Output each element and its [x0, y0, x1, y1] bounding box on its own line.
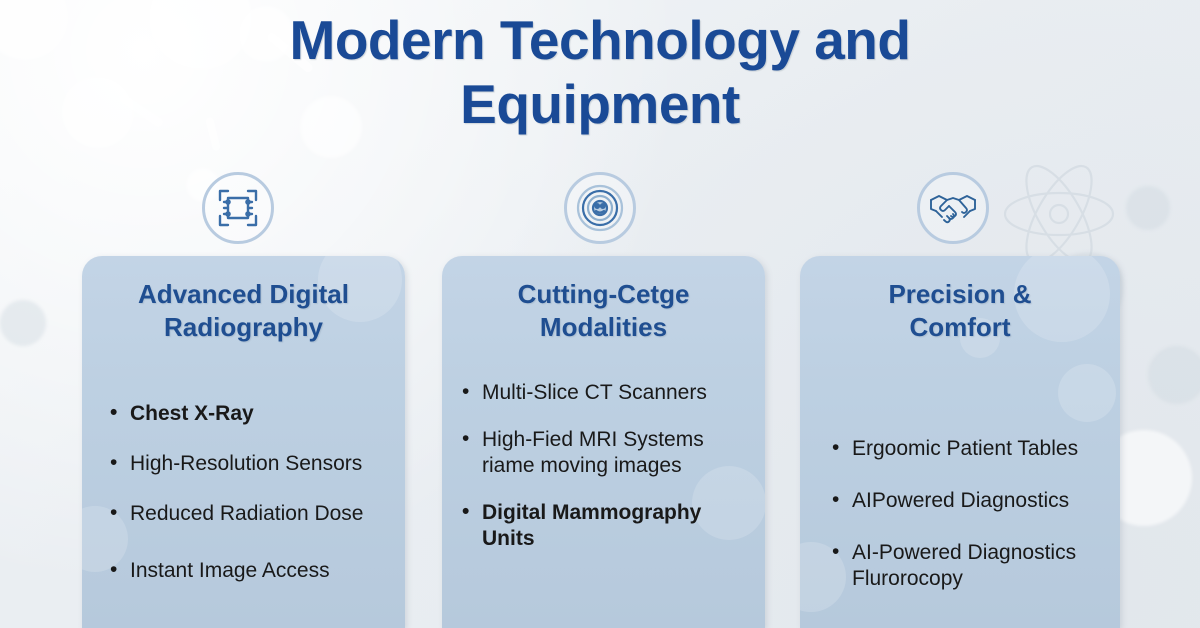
atom-watermark-icon [1000, 160, 1118, 268]
card-bullet-list: Multi-Slice CT Scanners High-Fied MRI Sy… [460, 380, 757, 552]
slide-canvas: Modern Technology and Equipment [0, 0, 1200, 628]
ct-scanner-icon-badge [564, 172, 636, 244]
handshake-icon [928, 187, 978, 229]
card-heading-line-2: Radiography [100, 311, 387, 344]
card-heading-line-2: Comfort [818, 311, 1102, 344]
list-item: Reduced Radiation Dose [108, 501, 393, 527]
card-bullet-list: Ergoomic Patient Tables AIPowered Diagno… [830, 436, 1110, 592]
list-item: Instant Image Access [108, 558, 393, 584]
card-cutting-edge-modalities: Cutting-Cetge Modalities Multi-Slice CT … [442, 256, 765, 628]
list-item: AIPowered Diagnostics [830, 488, 1110, 514]
handshake-icon-badge [917, 172, 989, 244]
xray-detector-icon-badge [202, 172, 274, 244]
ct-scanner-icon [576, 184, 624, 232]
card-heading-line-1: Cutting-Cetge [460, 278, 747, 311]
list-item: Chest X-Ray [108, 401, 393, 427]
list-item: AI-Powered Diagnostics Flurorocopy [830, 540, 1110, 592]
title-line-1: Modern Technology and [0, 8, 1200, 72]
card-heading-line-1: Advanced Digital [100, 278, 387, 311]
card-heading-line-1: Precision & [818, 278, 1102, 311]
card-advanced-digital-radiography: Advanced Digital Radiography Chest X-Ray… [82, 256, 405, 628]
list-item: Multi-Slice CT Scanners [460, 380, 757, 406]
card-precision-and-comfort: Precision & Comfort Ergoomic Patient Tab… [800, 256, 1120, 628]
list-item: High-Fied MRI Systems riame moving image… [460, 427, 757, 479]
card-heading: Precision & Comfort [818, 278, 1102, 344]
card-heading: Advanced Digital Radiography [100, 278, 387, 344]
card-heading: Cutting-Cetge Modalities [460, 278, 747, 344]
xray-detector-icon [215, 185, 261, 231]
card-bullet-list: Chest X-Ray High-Resolution Sensors Redu… [108, 401, 393, 584]
list-item: Ergoomic Patient Tables [830, 436, 1110, 462]
slide-title: Modern Technology and Equipment [0, 8, 1200, 136]
list-item: Digital Mammography Units [460, 500, 757, 552]
list-item: High-Resolution Sensors [108, 451, 393, 477]
card-heading-line-2: Modalities [460, 311, 747, 344]
title-line-2: Equipment [0, 72, 1200, 136]
